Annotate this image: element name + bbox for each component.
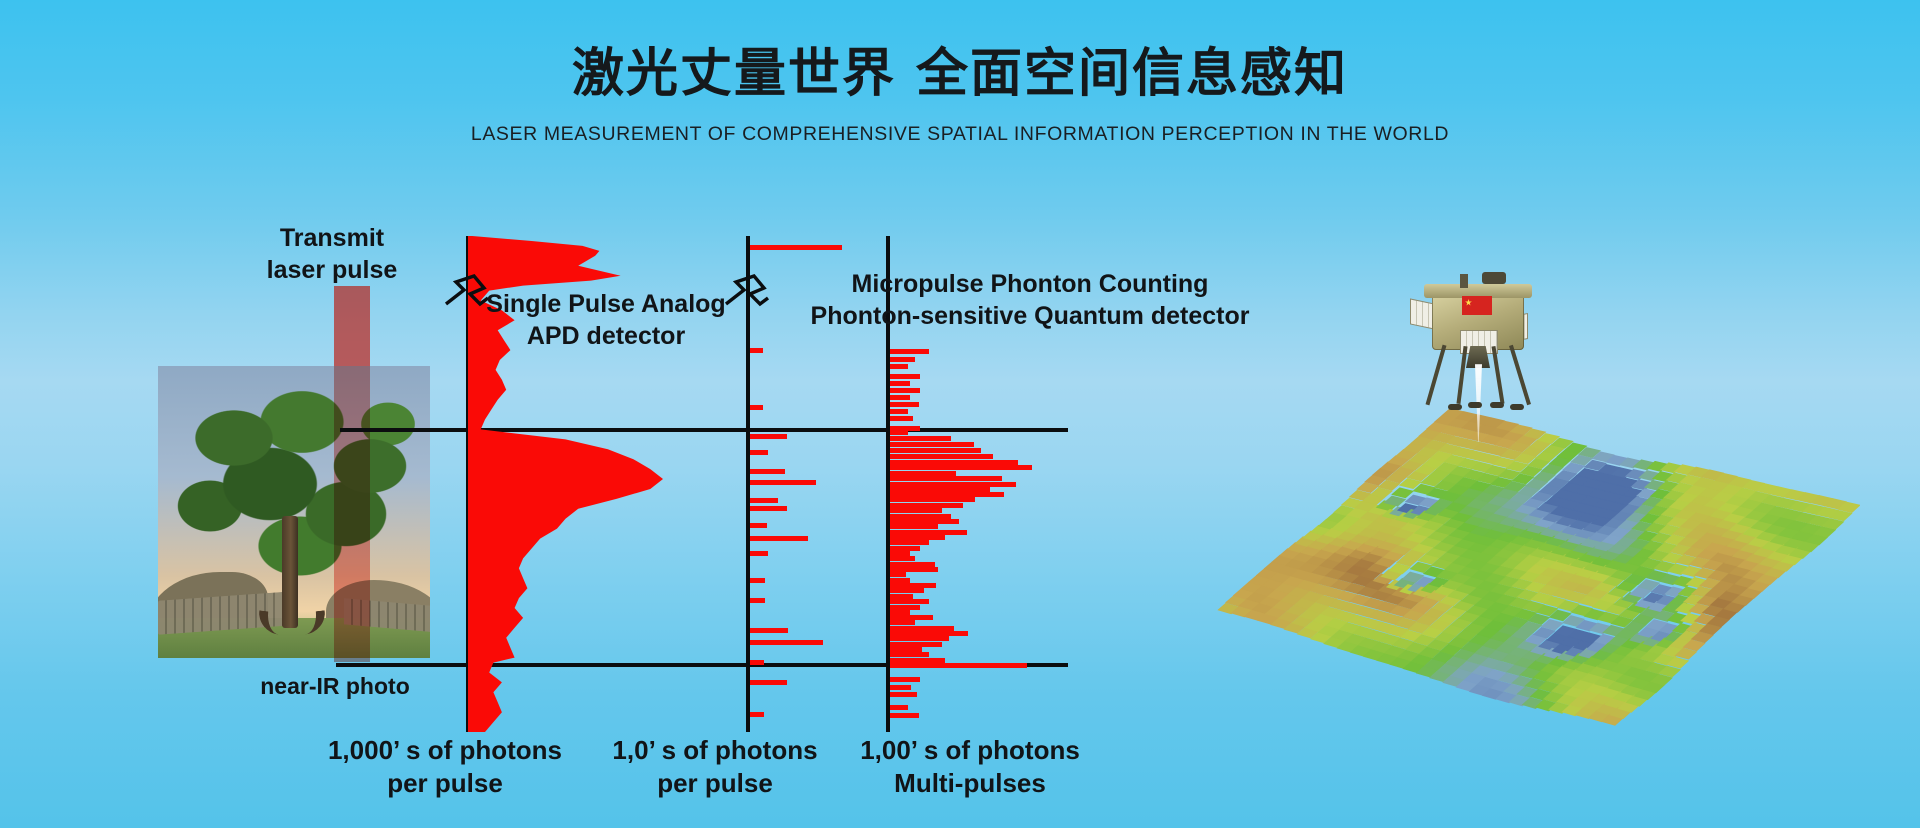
- footer-analog-caption: 1,000’ s of photons per pulse: [320, 734, 570, 801]
- photon-count-bar: [890, 556, 915, 561]
- chinese-flag-icon: [1462, 296, 1492, 315]
- photon-count-bar: [750, 551, 768, 556]
- photon-count-bar: [750, 348, 763, 353]
- photon-count-bar: [750, 578, 765, 583]
- single-pulse-analog-label: Single Pulse Analog APD detector: [456, 288, 756, 352]
- photon-count-bar: [890, 642, 942, 647]
- photon-count-bar: [890, 492, 1004, 497]
- photon-count-bar: [890, 567, 938, 572]
- photon-count-bar: [890, 578, 910, 583]
- colorized-lidar-terrain-mesh: [1200, 368, 1860, 736]
- photon-count-bar: [890, 349, 929, 354]
- photon-count-bar: [890, 530, 967, 535]
- lander-footpad: [1448, 404, 1462, 410]
- laser-beam-overlay: [334, 286, 370, 662]
- lander-instrument-box: [1482, 272, 1506, 284]
- photon-count-bar: [890, 395, 910, 400]
- photon-count-bar: [750, 640, 823, 645]
- photon-count-bar: [890, 610, 910, 615]
- photon-count-bar: [890, 524, 938, 529]
- photon-count-bar: [890, 599, 929, 604]
- photon-count-bar: [890, 388, 920, 393]
- photon-count-bar: [750, 660, 764, 665]
- photon-count-bar: [890, 572, 906, 577]
- photon-count-bar: [890, 519, 959, 524]
- photon-count-bar: [890, 652, 929, 657]
- photon-count-bar: [750, 680, 787, 685]
- lander-antenna-mast: [1460, 274, 1468, 288]
- photon-count-bar: [890, 497, 975, 502]
- photon-count-bar: [750, 498, 778, 503]
- header: 激光丈量世界 全面空间信息感知 LASER MEASUREMENT OF COM…: [0, 44, 1920, 146]
- photon-count-bar: [750, 450, 768, 455]
- photon-count-bar: [750, 628, 788, 633]
- footer-single-photon-caption: 1,0’ s of photons per pulse: [590, 734, 840, 801]
- transmit-laser-pulse-label: Transmit laser pulse: [232, 222, 432, 286]
- photon-count-bar: [890, 442, 974, 447]
- photon-count-bar: [890, 594, 913, 599]
- photon-count-bar: [890, 620, 915, 625]
- photon-count-bar: [890, 416, 913, 421]
- photon-count-bar: [890, 357, 915, 362]
- lander-footpad: [1510, 404, 1524, 410]
- photon-count-bar: [890, 677, 920, 682]
- lunar-lander: [1418, 272, 1538, 392]
- panel-b-axis-break-icon: [724, 274, 770, 318]
- photon-count-bar: [750, 469, 785, 474]
- page-subtitle: LASER MEASUREMENT OF COMPREHENSIVE SPATI…: [0, 123, 1920, 146]
- lidar-terrain-scene: [1200, 272, 1860, 742]
- photon-count-bar: [890, 448, 981, 453]
- photon-count-bar: [890, 692, 917, 697]
- photon-count-bar: [890, 430, 908, 435]
- photon-count-bar: [890, 465, 1032, 470]
- lander-footpad: [1468, 402, 1482, 408]
- photon-count-bar: [890, 546, 920, 551]
- photon-count-bar: [890, 685, 911, 690]
- photon-count-bar: [890, 615, 933, 620]
- page-title: 激光丈量世界 全面空间信息感知: [0, 44, 1920, 105]
- photon-count-bar: [890, 540, 929, 545]
- photon-count-bar: [750, 405, 763, 410]
- photon-count-bar: [890, 636, 949, 641]
- photon-count-bar: [890, 364, 908, 369]
- near-ir-tree-photo: [158, 366, 430, 658]
- photon-count-bar: [750, 712, 764, 717]
- photon-count-bar: [750, 506, 787, 511]
- photon-count-bar: [890, 476, 1002, 481]
- photon-count-bar: [750, 480, 816, 485]
- photon-count-bar: [750, 245, 842, 250]
- lander-footpad: [1490, 402, 1504, 408]
- photon-count-bar: [890, 381, 910, 386]
- footer-multipulse-caption: 1,00’ s of photons Multi-pulses: [845, 734, 1095, 801]
- photon-count-bar: [890, 631, 968, 636]
- photon-count-bar: [890, 454, 993, 459]
- infographic-canvas: 激光丈量世界 全面空间信息感知 LASER MEASUREMENT OF COM…: [0, 0, 1920, 828]
- photo-tree-trunk: [282, 516, 298, 628]
- photon-count-bar: [890, 409, 908, 414]
- terrain-mesh-cells: [1218, 409, 1860, 726]
- photon-count-bar: [890, 374, 920, 379]
- photon-count-bar: [890, 705, 908, 710]
- photon-count-bar: [750, 523, 767, 528]
- photon-count-bar: [750, 434, 787, 439]
- near-ir-photo-label: near-IR photo: [210, 672, 460, 701]
- photon-count-bar: [890, 713, 919, 718]
- photon-count-bar: [890, 402, 919, 407]
- photon-count-bar: [890, 436, 951, 441]
- photon-count-bar: [890, 588, 924, 593]
- photon-count-bar: [750, 598, 765, 603]
- photon-count-bar: [750, 536, 808, 541]
- photon-count-bar: [890, 551, 910, 556]
- photon-count-bar: [890, 508, 942, 513]
- photon-count-bar: [890, 663, 1027, 668]
- micropulse-counting-label: Micropulse Phonton Counting Phonton-sens…: [800, 268, 1260, 332]
- photon-count-bar: [890, 503, 963, 508]
